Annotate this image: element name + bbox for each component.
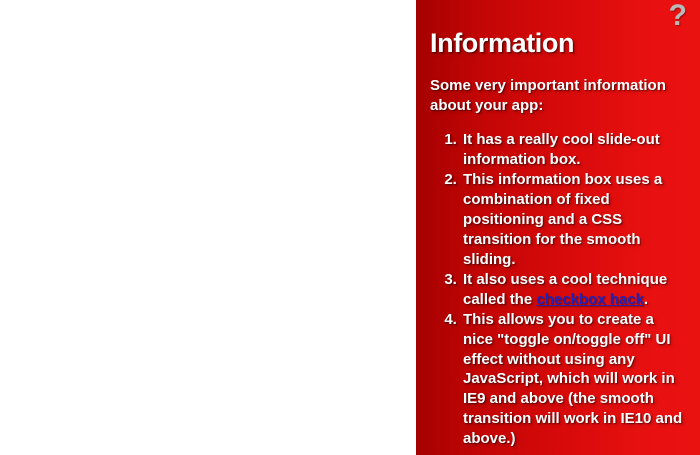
panel-intro-text: Some very important information about yo… <box>430 76 686 116</box>
question-mark-icon[interactable]: ? <box>669 1 687 31</box>
list-item: It also uses a cool technique called the… <box>461 270 686 310</box>
list-item-text-after-link: . <box>644 291 648 308</box>
list-item: It has a really cool slide-out informati… <box>461 130 686 170</box>
main-page-area <box>0 0 416 455</box>
list-item: This information box uses a combination … <box>461 170 686 270</box>
list-item: This allows you to create a nice "toggle… <box>461 310 686 450</box>
information-list: It has a really cool slide-out informati… <box>430 130 686 449</box>
information-slide-out-panel: ? Information Some very important inform… <box>416 0 700 455</box>
checkbox-hack-link[interactable]: checkbox hack <box>536 291 644 308</box>
panel-title: Information <box>430 29 686 57</box>
